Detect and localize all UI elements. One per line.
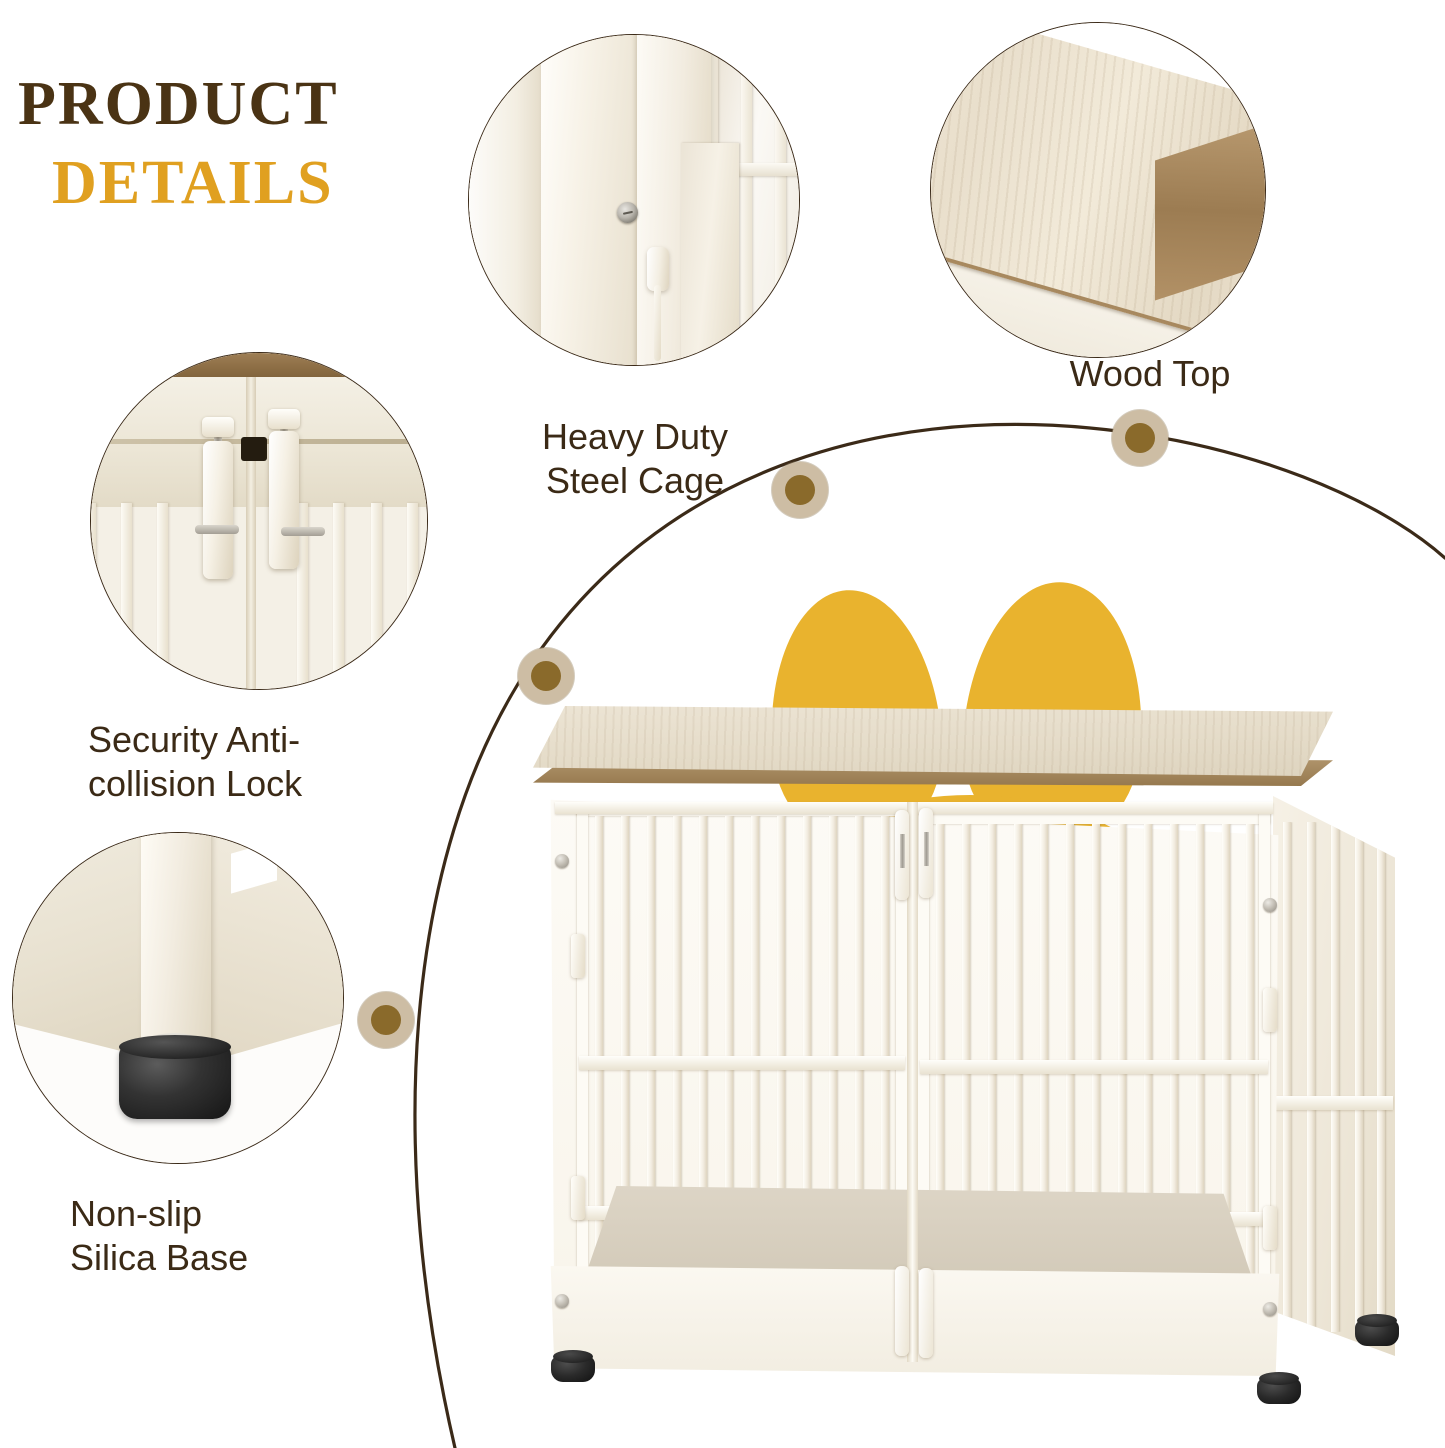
feature-label-steel-cage: Heavy Duty Steel Cage <box>470 415 800 503</box>
screw-icon <box>555 854 569 868</box>
latch-knob-icon <box>202 417 234 437</box>
infographic-canvas: PRODUCT DETAILS Heavy Duty <box>0 0 1445 1448</box>
door-hinge-left <box>571 934 585 978</box>
detail-photo-anti-collision-lock <box>90 352 428 690</box>
wood-top-surface <box>533 706 1333 776</box>
detail-photo-non-slip-base <box>12 832 344 1164</box>
detail-photo-wood-top <box>930 22 1266 358</box>
dog-crate <box>515 706 1405 1406</box>
product-image <box>505 560 1410 1410</box>
rubber-foot-icon <box>119 1045 231 1119</box>
slide-bolt-icon <box>269 431 299 569</box>
detail-photo-steel-cage <box>468 34 800 366</box>
screw-icon <box>1263 1302 1277 1316</box>
feature-label-anti-collision-lock: Security Anti- collision Lock <box>88 718 438 806</box>
crate-side-panel <box>1273 796 1395 1356</box>
door-hinge-left <box>571 1176 585 1220</box>
title-line-product: PRODUCT <box>18 72 448 137</box>
door-latch-right-bottom <box>919 1268 933 1358</box>
door-hinge-right <box>1263 1206 1277 1250</box>
slide-bolt-icon <box>203 441 233 579</box>
feature-label-wood-top: Wood Top <box>990 352 1310 396</box>
screw-icon <box>1263 898 1277 912</box>
title-line-details: DETAILS <box>52 151 448 216</box>
latch-knob-icon <box>268 409 300 429</box>
feature-label-non-slip-base: Non-slip Silica Base <box>70 1192 400 1280</box>
door-latch-left-bottom <box>895 1266 909 1356</box>
non-slip-foot <box>551 1356 595 1382</box>
door-hinge-right <box>1263 988 1277 1032</box>
page-title: PRODUCT DETAILS <box>18 72 448 216</box>
screw-icon <box>555 1294 569 1308</box>
non-slip-foot <box>1257 1378 1301 1404</box>
arc-dot-woodtop <box>1112 410 1168 466</box>
screw-icon <box>617 202 638 223</box>
arc-dot-lock <box>358 992 414 1048</box>
non-slip-foot <box>1355 1320 1399 1346</box>
